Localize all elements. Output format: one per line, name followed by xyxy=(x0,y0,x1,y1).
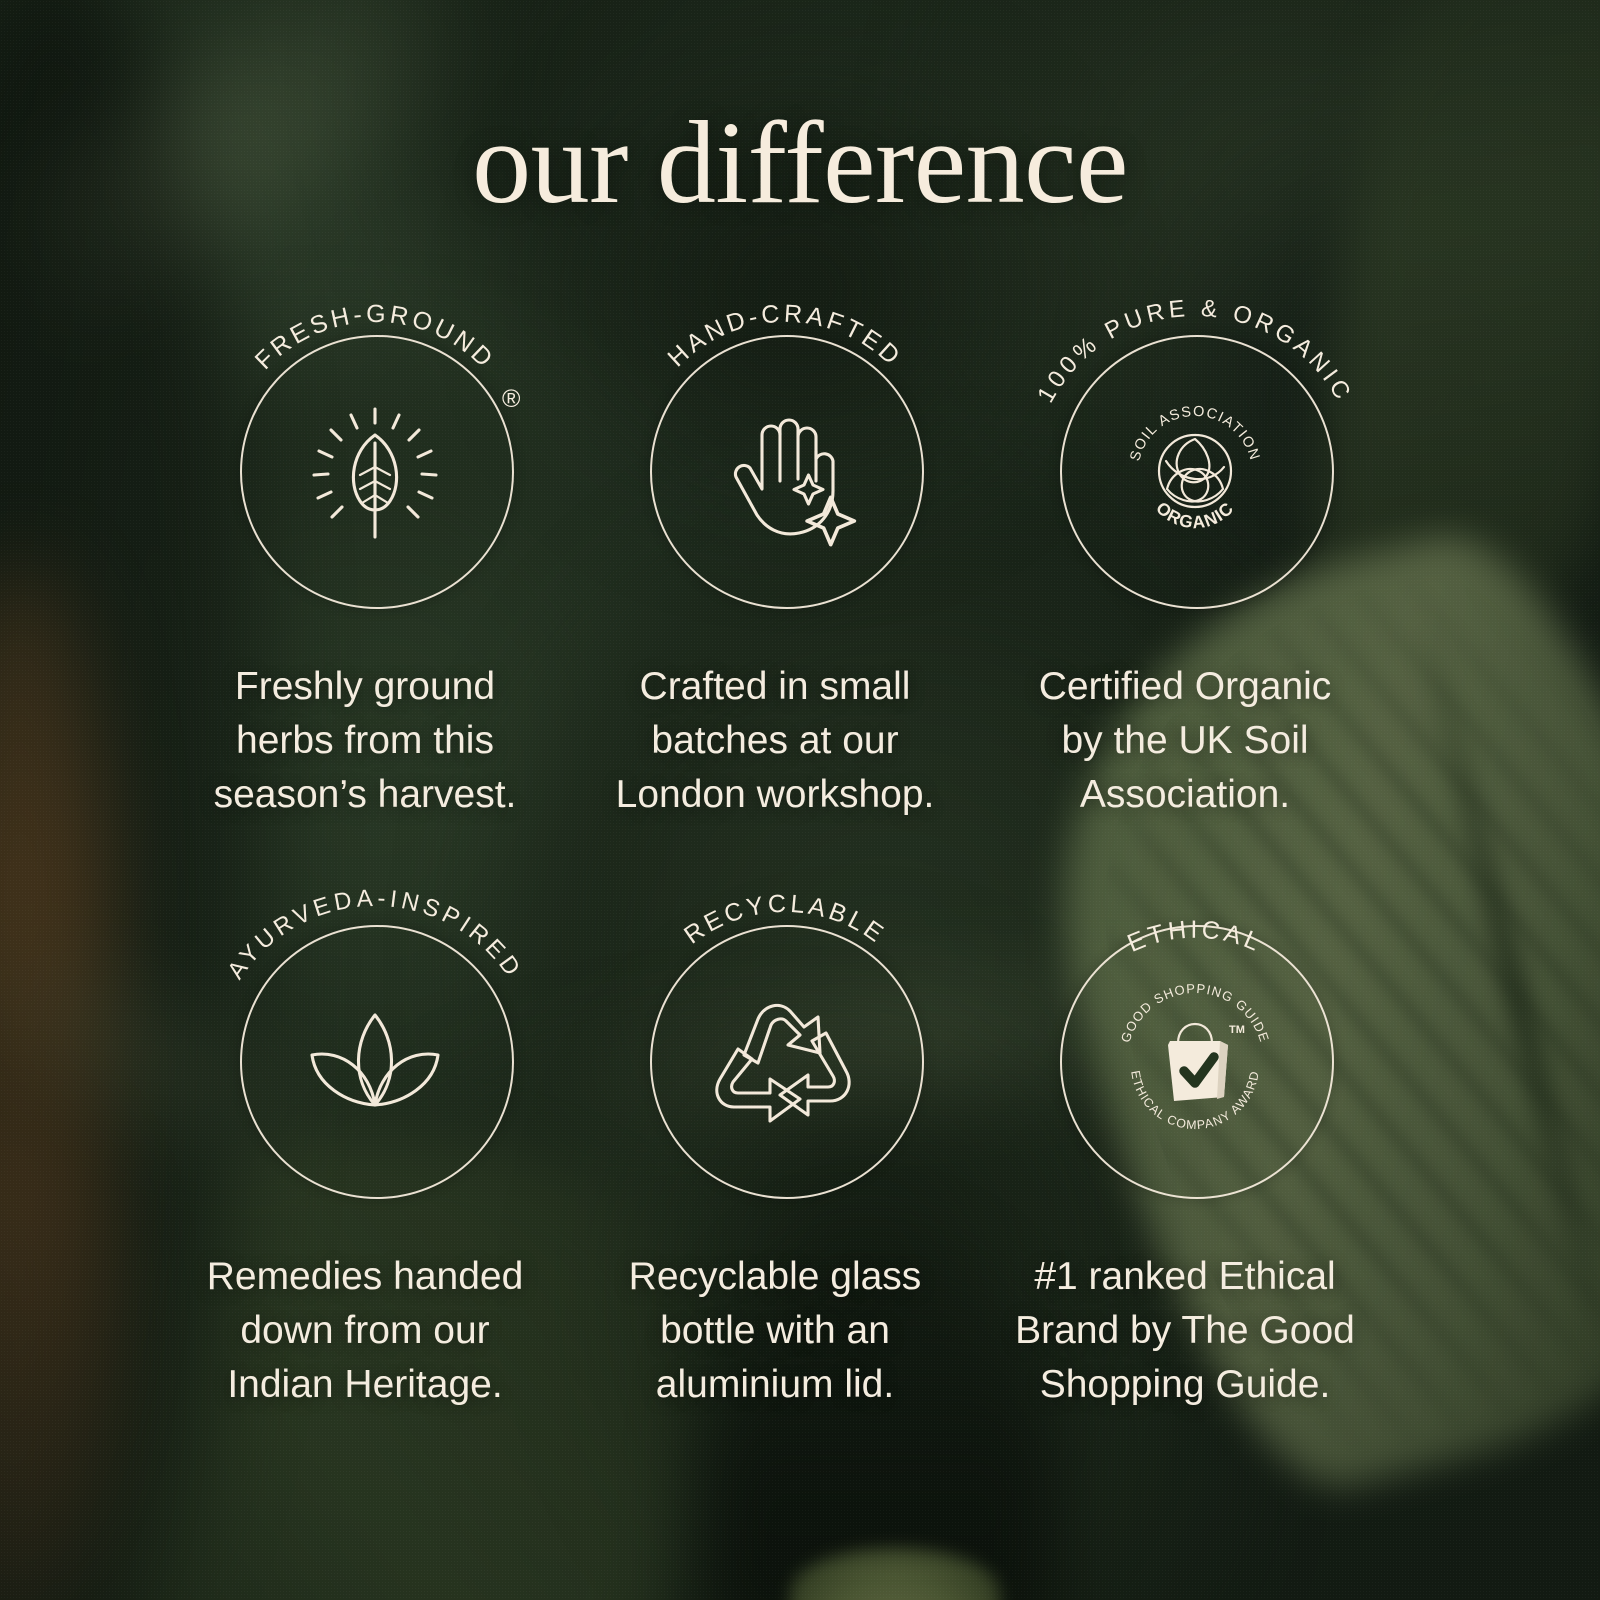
caption-line: London workshop. xyxy=(585,768,965,822)
svg-text:GOOD SHOPPING GUIDE: GOOD SHOPPING GUIDE xyxy=(1118,981,1272,1045)
recycling-arrows-icon xyxy=(700,975,870,1145)
good-shopping-guide-award-icon: GOOD SHOPPING GUIDE ETHICAL COMPANY AWAR… xyxy=(1110,975,1280,1145)
badge-hand-crafted: HAND-CRAFTED xyxy=(615,300,955,640)
badge-arc-text: RECYCLABLE xyxy=(679,890,891,950)
caption-line: batches at our xyxy=(585,714,965,768)
badge-arc-text: AYURVEDA-INSPIRED xyxy=(222,885,527,984)
caption-line: Brand by The Good xyxy=(995,1304,1375,1358)
svg-text:ETHICAL: ETHICAL xyxy=(1123,916,1266,958)
caption-ayurveda-inspired: Remedies handed down from our Indian Her… xyxy=(175,1250,555,1411)
badge-ayurveda-inspired: AYURVEDA-INSPIRED xyxy=(205,890,545,1230)
svg-text:RECYCLABLE: RECYCLABLE xyxy=(679,890,891,950)
badge-arc-text: ETHICAL xyxy=(1123,916,1266,958)
soil-association-organic-icon: SOIL ASSOCIATION ORGANIC xyxy=(1110,385,1280,555)
caption-line: Certified Organic xyxy=(995,660,1375,714)
badge-pure-organic: 100% PURE & ORGANIC SOIL ASSOCIATION ORG… xyxy=(1025,300,1365,640)
caption-line: #1 ranked Ethical xyxy=(995,1250,1375,1304)
svg-text:HAND-CRAFTED: HAND-CRAFTED xyxy=(662,300,907,373)
caption-line: Freshly ground xyxy=(175,660,555,714)
caption-line: by the UK Soil xyxy=(995,714,1375,768)
soil-association-top-text: SOIL ASSOCIATION xyxy=(1127,404,1262,463)
gsg-top-text: GOOD SHOPPING GUIDE xyxy=(1118,981,1272,1045)
caption-line: Recyclable glass xyxy=(585,1250,965,1304)
page-title: our difference xyxy=(0,104,1600,222)
caption-line: bottle with an xyxy=(585,1304,965,1358)
caption-line: Association. xyxy=(995,768,1375,822)
caption-line: aluminium lid. xyxy=(585,1358,965,1412)
badge-ethical: ETHICAL GOOD SHOPPING GUIDE ETHICAL COMP… xyxy=(1025,890,1365,1230)
svg-text:®: ® xyxy=(502,385,524,413)
caption-line: season’s harvest. xyxy=(175,768,555,822)
caption-line: Crafted in small xyxy=(585,660,965,714)
trademark-mark: TM xyxy=(1229,1024,1245,1036)
caption-pure-organic: Certified Organic by the UK Soil Associa… xyxy=(995,660,1375,821)
caption-line: Remedies handed xyxy=(175,1250,555,1304)
caption-ethical: #1 ranked Ethical Brand by The Good Shop… xyxy=(995,1250,1375,1411)
infographic-canvas: our difference FRESH-GROUND ® xyxy=(0,0,1600,1600)
svg-text:SOIL ASSOCIATION: SOIL ASSOCIATION xyxy=(1127,404,1262,463)
svg-text:ORGANIC: ORGANIC xyxy=(1152,498,1238,533)
svg-text:AYURVEDA-INSPIRED: AYURVEDA-INSPIRED xyxy=(222,885,527,984)
badge-fresh-ground: FRESH-GROUND ® xyxy=(205,300,545,640)
lotus-icon xyxy=(290,975,460,1145)
caption-hand-crafted: Crafted in small batches at our London w… xyxy=(585,660,965,821)
caption-recyclable: Recyclable glass bottle with an aluminiu… xyxy=(585,1250,965,1411)
badge-arc-text: HAND-CRAFTED xyxy=(662,300,907,373)
caption-line: Shopping Guide. xyxy=(995,1358,1375,1412)
soil-association-bottom-text: ORGANIC xyxy=(1152,498,1238,533)
open-hand-sparkle-icon xyxy=(700,385,870,555)
leaf-with-rays-icon xyxy=(290,385,460,555)
caption-line: down from our xyxy=(175,1304,555,1358)
badge-recyclable: RECYCLABLE xyxy=(615,890,955,1230)
caption-line: Indian Heritage. xyxy=(175,1358,555,1412)
caption-line: herbs from this xyxy=(175,714,555,768)
caption-fresh-ground: Freshly ground herbs from this season’s … xyxy=(175,660,555,821)
